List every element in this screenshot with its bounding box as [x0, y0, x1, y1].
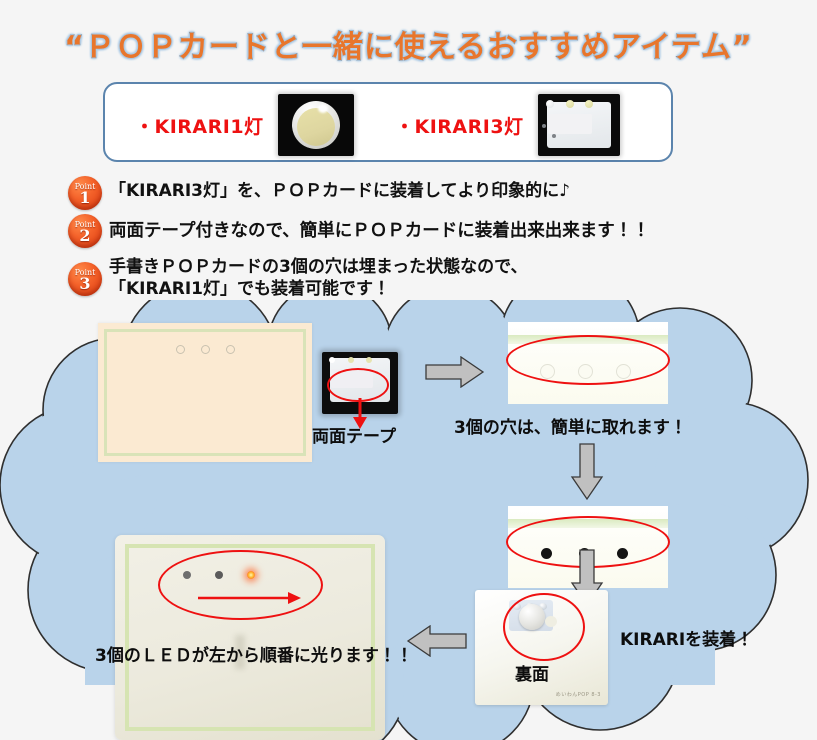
point-row-3: Point 3 手書きＰＯＰカードの3個の穴は埋まった状態なので、 「KIRAR…: [68, 252, 808, 301]
adhesive-pad: [331, 369, 373, 388]
card-hole-3: [226, 345, 235, 354]
card-fineprint: めいわんPOP 8-3: [556, 691, 601, 698]
point-badge-3: Point 3: [68, 262, 102, 296]
gray-arrow-left-icon: [405, 625, 467, 657]
label-double-sided-tape: 両面テープ: [312, 422, 396, 447]
gray-arrow-down-icon-1: [570, 443, 604, 501]
pop-card-back-photo: めいわんPOP 8-3: [475, 590, 608, 705]
faint-hole-1: [540, 364, 555, 379]
red-arrow-right-icon: [198, 589, 303, 607]
pop-card-lit-photo: [115, 535, 385, 740]
point-badge-number: 3: [79, 276, 90, 292]
led-disc-inner: [297, 108, 335, 146]
point-text-2: 両面テープ付きなので、簡単にＰＯＰカードに装着出来出来ます！！: [109, 214, 650, 242]
point-badge-number: 1: [79, 190, 90, 206]
point-text-3: 手書きＰＯＰカードの3個の穴は埋まった状態なので、 「KIRARI1灯」でも装着…: [109, 252, 527, 301]
point-row-2: Point 2 両面テープ付きなので、簡単にＰＯＰカードに装着出来出来ます！！: [68, 214, 808, 248]
card-green-line: [508, 519, 668, 528]
product-item-kirari1[interactable]: ・KIRARI1灯: [135, 94, 354, 156]
led-2-icon: [566, 100, 574, 108]
battery-tab: [545, 616, 557, 627]
card-hole-2: [201, 345, 210, 354]
label-holes-easy: 3個の穴は、簡単に取れます！: [454, 413, 687, 438]
product-list-box: ・KIRARI1灯 ・KIRARI3灯: [103, 82, 673, 162]
led-1-icon: [546, 100, 554, 108]
led-dot-1: [183, 571, 191, 579]
led-dot-3-glowing: [247, 571, 255, 579]
faint-hole-3: [616, 364, 631, 379]
led-3-icon: [366, 357, 372, 363]
product-item-kirari3[interactable]: ・KIRARI3灯: [395, 94, 620, 156]
led-2-icon: [348, 357, 354, 363]
label-attach-kirari: KIRARIを装着！: [620, 625, 753, 650]
led-1-icon: [513, 603, 521, 610]
kirari-3-led-photo: [538, 94, 620, 156]
product-label-kirari1: ・KIRARI1灯: [135, 112, 264, 139]
open-hole-3: [617, 548, 628, 559]
point-line-1: 手書きＰＯＰカードの3個の穴は埋まった状態なので、: [109, 257, 527, 279]
led-dot-2: [215, 571, 223, 579]
points-list: Point 1 「KIRARI3灯」を、ＰＯＰカードに装着してより印象的に♪ P…: [68, 176, 808, 305]
label-led-sequence: 3個のＬＥＤが左から順番に光ります！！: [95, 641, 413, 666]
point-line-2: 「KIRARI1灯」でも装着可能です！: [109, 279, 527, 301]
led-highlight: [318, 104, 328, 113]
page-title: “ＰＯＰカードと一緒に使えるおすすめアイテム”: [0, 22, 817, 66]
coin-battery: [519, 604, 545, 630]
point-badge-1: Point 1: [68, 176, 102, 210]
label-back-side: 裏面: [515, 660, 549, 685]
point-line-1: 「KIRARI3灯」を、ＰＯＰカードに装着してより印象的に♪: [109, 181, 570, 201]
process-diagram: 両面テープ 3個の穴は、簡単に取れます！: [0, 300, 817, 740]
point-text-1: 「KIRARI3灯」を、ＰＯＰカードに装着してより印象的に♪: [109, 176, 570, 203]
point-badge-number: 2: [79, 228, 90, 244]
faint-hole-2: [578, 364, 593, 379]
screw-hole-1: [542, 124, 546, 128]
point-line-1: 両面テープ付きなので、簡単にＰＯＰカードに装着出来出来ます！！: [109, 221, 650, 241]
screw-hole-2: [552, 134, 556, 138]
card-green-line: [508, 335, 668, 344]
pop-card-front-photo: [98, 323, 312, 462]
card-hole-1: [176, 345, 185, 354]
point-row-1: Point 1 「KIRARI3灯」を、ＰＯＰカードに装着してより印象的に♪: [68, 176, 808, 210]
product-label-kirari3: ・KIRARI3灯: [395, 112, 524, 139]
card-holes-faint-photo: [508, 322, 668, 404]
adhesive-pad: [548, 114, 592, 134]
point-badge-2: Point 2: [68, 214, 102, 248]
kirari-1-led-photo: [278, 94, 354, 156]
gray-arrow-right-icon-1: [425, 356, 485, 388]
led-3-icon: [585, 100, 593, 108]
led-1-icon: [329, 357, 335, 363]
open-hole-1: [541, 548, 552, 559]
